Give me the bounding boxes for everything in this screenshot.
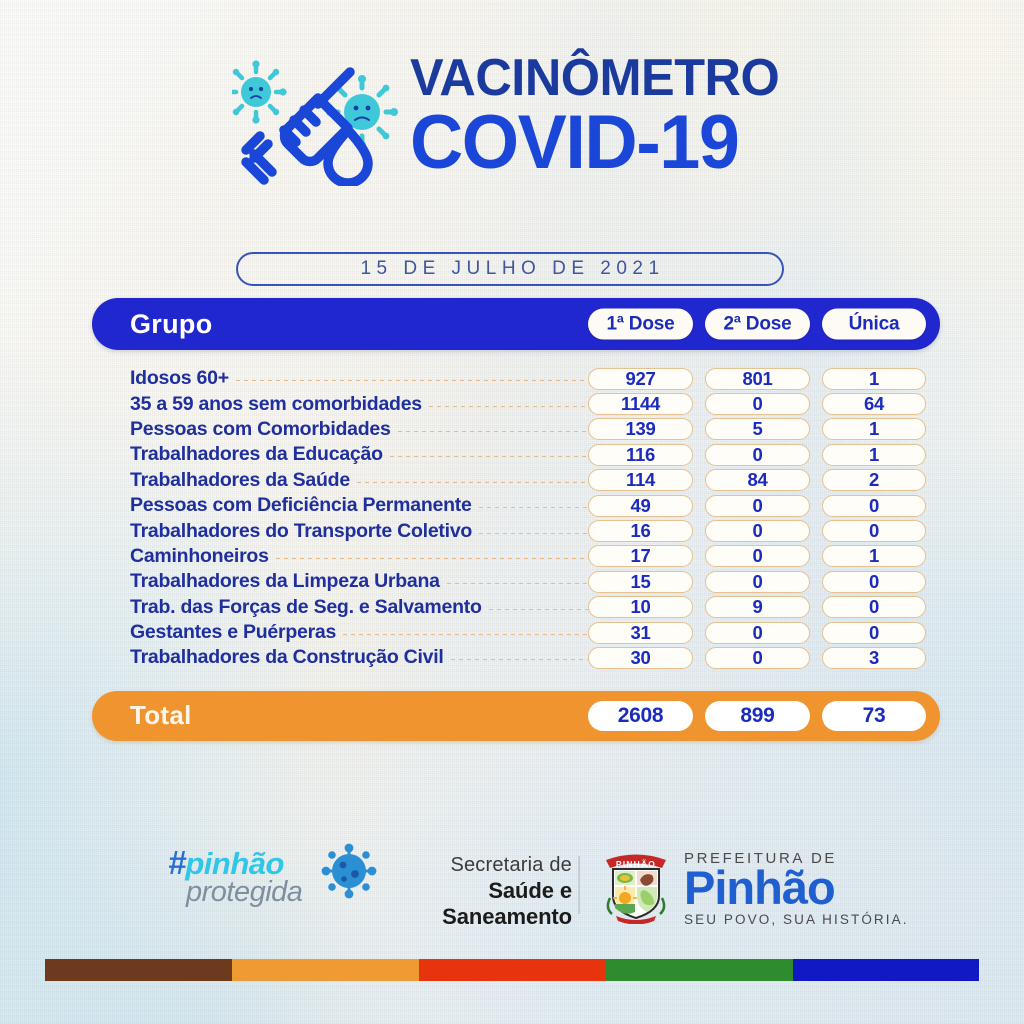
secretaria-line-2: Saúde e Saneamento — [392, 878, 572, 930]
bottom-color-bar — [45, 959, 979, 981]
row-unica: 3 — [822, 647, 926, 669]
virus-icon — [316, 840, 382, 902]
row-dose1: 114 — [588, 469, 693, 491]
row-dose2: 0 — [705, 571, 810, 593]
row-values: 1090 — [588, 595, 926, 620]
row-group-label: Trabalhadores da Saúde — [130, 469, 350, 492]
prefeitura-line-2: Pinhão — [684, 866, 909, 911]
row-leader-dots — [479, 507, 595, 508]
row-dose1: 17 — [588, 545, 693, 567]
row-values: 1500 — [588, 569, 926, 594]
row-dose1: 16 — [588, 520, 693, 542]
row-values: 1600 — [588, 518, 926, 543]
row-values: 3003 — [588, 645, 926, 670]
row-dose2: 5 — [705, 418, 810, 440]
column-header-grupo: Grupo — [130, 309, 213, 340]
row-dose1: 30 — [588, 647, 693, 669]
row-group-label: Trabalhadores da Educação — [130, 443, 383, 466]
row-leader-dots — [276, 558, 595, 559]
row-dose1: 139 — [588, 418, 693, 440]
row-dose2: 801 — [705, 368, 810, 390]
row-unica: 1 — [822, 368, 926, 390]
row-dose1: 116 — [588, 444, 693, 466]
row-leader-dots — [398, 431, 595, 432]
total-label: Total — [130, 700, 192, 731]
row-group-label: Trabalhadores da Construção Civil — [130, 646, 444, 669]
row-unica: 2 — [822, 469, 926, 491]
row-unica: 1 — [822, 418, 926, 440]
row-dose2: 0 — [705, 545, 810, 567]
row-leader-dots — [357, 482, 595, 483]
row-unica: 1 — [822, 444, 926, 466]
row-values: 1144064 — [588, 391, 926, 416]
row-dose1: 1144 — [588, 393, 693, 415]
row-unica: 0 — [822, 571, 926, 593]
row-unica: 0 — [822, 622, 926, 644]
row-unica: 64 — [822, 393, 926, 415]
vaccination-table: Grupo 1ª Dose 2ª Dose Única Idosos 60+92… — [92, 298, 940, 741]
row-values: 4900 — [588, 493, 926, 518]
pinhao-coat-of-arms-icon: PINHÃO — [600, 846, 672, 924]
colorbar-segment-green — [606, 959, 793, 981]
row-group-label: Trabalhadores da Limpeza Urbana — [130, 570, 440, 593]
total-dose1: 2608 — [588, 701, 693, 731]
column-header-pills: 1ª Dose 2ª Dose Única — [588, 309, 926, 340]
row-group-label: Pessoas com Comorbidades — [130, 418, 391, 441]
row-unica: 0 — [822, 596, 926, 618]
row-values: 11601 — [588, 442, 926, 467]
table-row: Trabalhadores da Saúde114842 — [92, 468, 940, 493]
row-dose2: 0 — [705, 393, 810, 415]
table-row: Pessoas com Comorbidades13951 — [92, 417, 940, 442]
row-leader-dots — [447, 583, 595, 584]
row-leader-dots — [390, 456, 595, 457]
table-row: Pessoas com Deficiência Permanente4900 — [92, 493, 940, 518]
row-leader-dots — [479, 533, 595, 534]
prefeitura-block: PREFEITURA DE Pinhão SEU POVO, SUA HISTÓ… — [684, 850, 909, 927]
row-dose2: 84 — [705, 469, 810, 491]
row-dose2: 0 — [705, 622, 810, 644]
title-block: VACINÔMETRO COVID-19 — [410, 52, 810, 180]
row-values: 13951 — [588, 417, 926, 442]
total-dose2: 899 — [705, 701, 810, 731]
row-dose1: 927 — [588, 368, 693, 390]
total-unica: 73 — [822, 701, 926, 731]
footer: # pinhão protegida — [0, 836, 1024, 936]
row-dose1: 49 — [588, 495, 693, 517]
row-unica: 1 — [822, 545, 926, 567]
date-text: 15 DE JULHO DE 2021 — [355, 258, 664, 280]
table-row: 35 a 59 anos sem comorbidades1144064 — [92, 391, 940, 416]
campaign-hash: # — [168, 844, 185, 882]
row-dose2: 0 — [705, 495, 810, 517]
row-dose1: 15 — [588, 571, 693, 593]
title-line-2: COVID-19 — [410, 106, 798, 180]
table-row: Trabalhadores da Educação11601 — [92, 442, 940, 467]
row-group-label: 35 a 59 anos sem comorbidades — [130, 393, 422, 416]
prefeitura-line-3: SEU POVO, SUA HISTÓRIA. — [684, 912, 909, 927]
row-dose2: 0 — [705, 520, 810, 542]
colorbar-segment-red — [419, 959, 606, 981]
title-line-1: VACINÔMETRO — [410, 52, 798, 104]
header: VACINÔMETRO COVID-19 15 DE JULHO DE 2021 — [0, 48, 1024, 248]
row-dose1: 31 — [588, 622, 693, 644]
secretaria-block: Secretaria de Saúde e Saneamento — [392, 854, 572, 930]
row-unica: 0 — [822, 495, 926, 517]
footer-divider — [578, 856, 580, 914]
row-leader-dots — [489, 609, 595, 610]
row-leader-dots — [236, 380, 595, 381]
campaign-logo: # pinhão protegida — [168, 844, 348, 922]
row-group-label: Trabalhadores do Transporte Coletivo — [130, 520, 472, 543]
date-badge: 15 DE JULHO DE 2021 — [236, 252, 784, 286]
table-row: Caminhoneiros1701 — [92, 544, 940, 569]
column-header-dose1: 1ª Dose — [588, 309, 693, 340]
row-dose2: 0 — [705, 444, 810, 466]
syringe-droplet-virus-icon — [232, 58, 398, 186]
column-header-unica: Única — [822, 309, 926, 340]
table-row: Trabalhadores da Limpeza Urbana1500 — [92, 569, 940, 594]
row-dose1: 10 — [588, 596, 693, 618]
row-values: 9278011 — [588, 366, 926, 391]
row-group-label: Idosos 60+ — [130, 367, 229, 390]
table-row: Trab. das Forças de Seg. e Salvamento109… — [92, 595, 940, 620]
total-values: 2608 899 73 — [588, 701, 926, 731]
row-leader-dots — [451, 659, 595, 660]
column-header-dose2: 2ª Dose — [705, 309, 810, 340]
row-dose2: 0 — [705, 647, 810, 669]
row-leader-dots — [343, 634, 595, 635]
secretaria-line-1: Secretaria de — [392, 854, 572, 877]
row-leader-dots — [429, 406, 595, 407]
colorbar-segment-brown — [45, 959, 232, 981]
row-values: 1701 — [588, 544, 926, 569]
colorbar-segment-orange — [232, 959, 419, 981]
colorbar-segment-blue — [793, 959, 979, 981]
row-group-label: Gestantes e Puérperas — [130, 621, 336, 644]
table-row: Idosos 60+9278011 — [92, 366, 940, 391]
row-group-label: Caminhoneiros — [130, 545, 269, 568]
row-dose2: 9 — [705, 596, 810, 618]
row-values: 114842 — [588, 468, 926, 493]
table-header-row: Grupo 1ª Dose 2ª Dose Única — [92, 298, 940, 350]
row-values: 3100 — [588, 620, 926, 645]
row-unica: 0 — [822, 520, 926, 542]
svg-text:PINHÃO: PINHÃO — [616, 859, 656, 869]
table-row: Gestantes e Puérperas3100 — [92, 620, 940, 645]
table-row: Trabalhadores da Construção Civil3003 — [92, 645, 940, 670]
row-group-label: Pessoas com Deficiência Permanente — [130, 494, 472, 517]
table-row: Trabalhadores do Transporte Coletivo1600 — [92, 518, 940, 543]
row-group-label: Trab. das Forças de Seg. e Salvamento — [130, 596, 482, 619]
table-total-row: Total 2608 899 73 — [92, 691, 940, 741]
table-body: Idosos 60+927801135 a 59 anos sem comorb… — [92, 366, 940, 671]
